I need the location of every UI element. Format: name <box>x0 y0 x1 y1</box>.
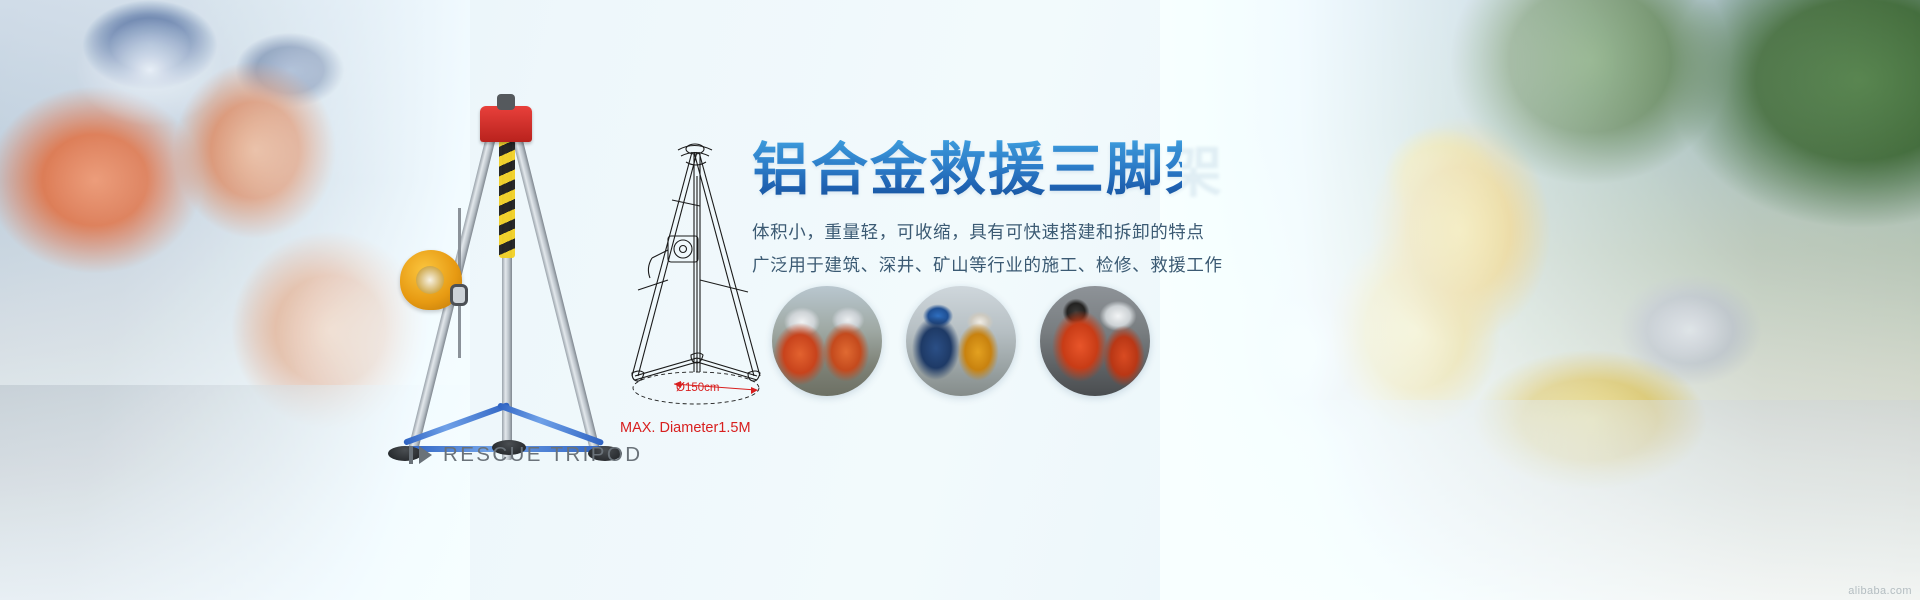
thumbnail-rescue-team-field[interactable] <box>772 286 882 396</box>
thumbnail-gallery <box>772 286 1150 396</box>
subtitle-line-1: 体积小，重量轻，可收缩，具有可快速搭建和拆卸的特点 <box>752 216 1182 248</box>
tripod-pulley <box>450 284 468 306</box>
headline-block: 铝合金救援三脚架 体积小，重量轻，可收缩，具有可快速搭建和拆卸的特点 广泛用于建… <box>752 140 1182 281</box>
subtitle-line-2: 广泛用于建筑、深井、矿山等行业的施工、检修、救援工作 <box>752 249 1182 281</box>
banner-subtitle: 体积小，重量轻，可收缩，具有可快速搭建和拆卸的特点 广泛用于建筑、深井、矿山等行… <box>752 216 1182 281</box>
tripod-head-assembly <box>480 106 532 142</box>
product-photo-aluminum-rescue-tripod <box>392 88 622 453</box>
watermark-text: alibaba.com <box>1848 585 1912 597</box>
base-bar-left <box>403 402 510 446</box>
play-triangle-icon <box>419 446 432 464</box>
background-photo-right-rescue-scene <box>1160 0 1920 600</box>
product-caption: RESCUE TRIPOD <box>409 443 642 467</box>
annotation-max-diameter: MAX. Diameter1.5M <box>620 420 751 436</box>
play-bar-icon <box>409 446 413 464</box>
thumbnail-confined-space-rescue[interactable] <box>1040 286 1150 396</box>
thumbnail-rescue-workers-wellhead[interactable] <box>906 286 1016 396</box>
product-caption-text: RESCUE TRIPOD <box>443 443 642 467</box>
product-banner: Ø150cm MAX. Diameter1.5M RESCUE TRIPOD 铝… <box>0 0 1920 600</box>
banner-title: 铝合金救援三脚架 <box>752 140 1182 200</box>
ground-overlay-right <box>1160 400 1920 600</box>
tripod-warning-stripe <box>499 140 515 258</box>
annotation-diameter-cm: Ø150cm <box>676 382 719 394</box>
